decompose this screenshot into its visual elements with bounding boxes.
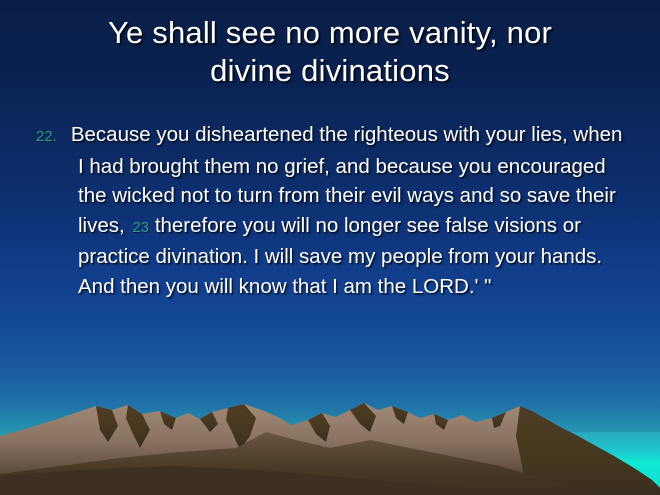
slide-title: Ye shall see no more vanity, nor divine …	[40, 14, 620, 90]
scripture-paragraph: 22.Because you disheartened the righteou…	[36, 120, 626, 302]
mountain-landscape-graphic	[0, 370, 660, 495]
title-line-1: Ye shall see no more vanity, nor	[40, 14, 620, 52]
presentation-slide: Ye shall see no more vanity, nor divine …	[0, 0, 660, 495]
verse-number-22: 22.	[36, 128, 57, 145]
scripture-text-part-2: therefore you will no longer see false v…	[78, 214, 602, 298]
verse-number-23: 23	[132, 219, 149, 236]
slide-body: 22.Because you disheartened the righteou…	[36, 120, 626, 302]
title-line-2: divine divinations	[40, 52, 620, 90]
